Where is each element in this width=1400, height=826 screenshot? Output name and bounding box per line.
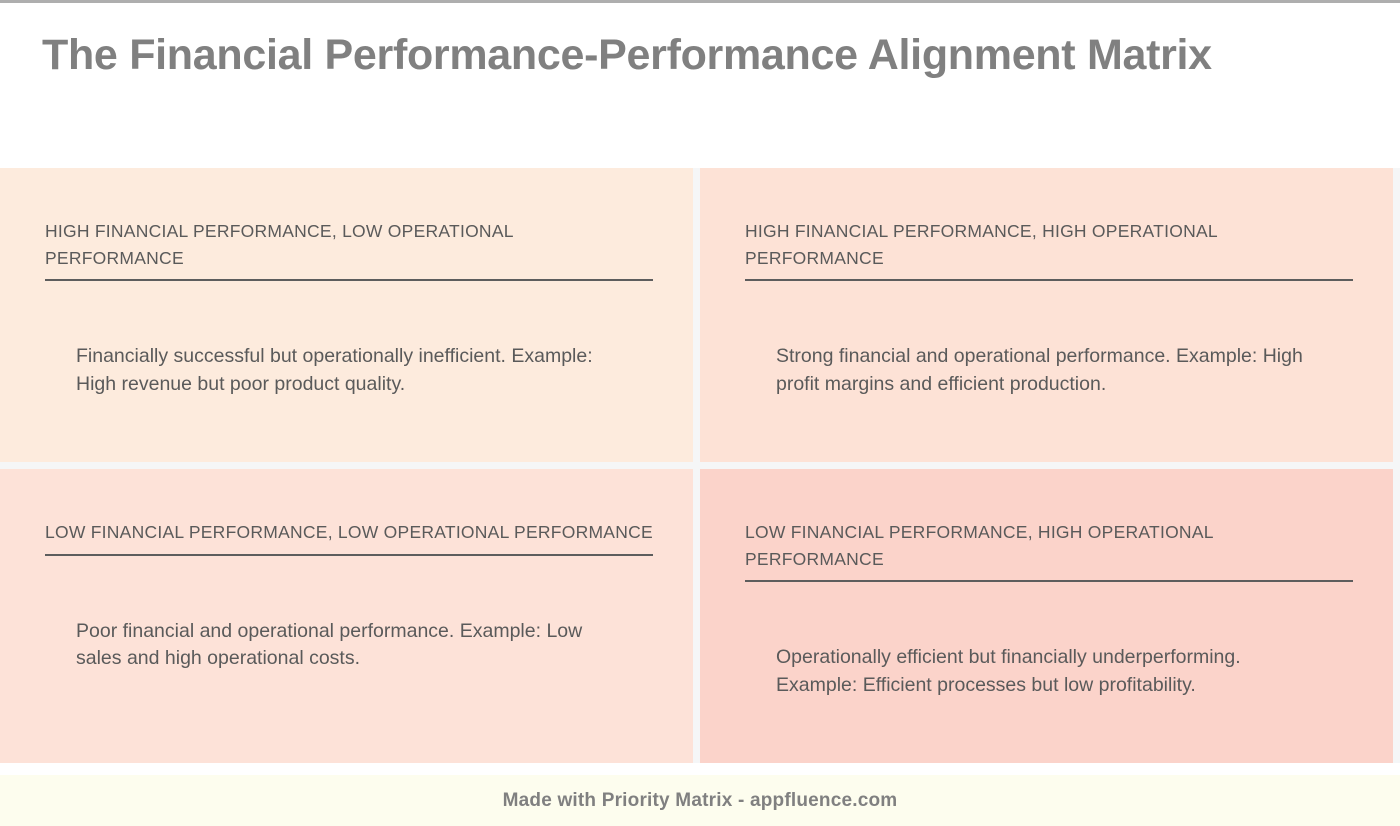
- quadrant-bottom-right[interactable]: LOW FINANCIAL PERFORMANCE, HIGH OPERATIO…: [700, 469, 1393, 763]
- footer: Made with Priority Matrix - appfluence.c…: [0, 763, 1400, 826]
- quadrant-body-bottom-right: Operationally efficient but financially …: [776, 644, 1316, 699]
- quadrant-bottom-left[interactable]: LOW FINANCIAL PERFORMANCE, LOW OPERATION…: [0, 469, 693, 763]
- title-area: The Financial Performance-Performance Al…: [0, 3, 1400, 168]
- footer-attribution[interactable]: Made with Priority Matrix - appfluence.c…: [503, 790, 898, 812]
- quadrant-top-right[interactable]: HIGH FINANCIAL PERFORMANCE, HIGH OPERATI…: [700, 168, 1393, 462]
- quadrant-body-top-left: Financially successful but operationally…: [76, 343, 616, 398]
- quadrant-header-top-left: HIGH FINANCIAL PERFORMANCE, LOW OPERATIO…: [45, 218, 653, 281]
- quadrant-header-bottom-right: LOW FINANCIAL PERFORMANCE, HIGH OPERATIO…: [745, 519, 1353, 582]
- quadrant-body-top-right: Strong financial and operational perform…: [776, 343, 1316, 398]
- quadrant-grid: HIGH FINANCIAL PERFORMANCE, LOW OPERATIO…: [0, 168, 1400, 763]
- matrix-page: The Financial Performance-Performance Al…: [0, 0, 1400, 826]
- quadrant-header-top-right: HIGH FINANCIAL PERFORMANCE, HIGH OPERATI…: [745, 218, 1353, 281]
- quadrant-top-left[interactable]: HIGH FINANCIAL PERFORMANCE, LOW OPERATIO…: [0, 168, 693, 462]
- page-title: The Financial Performance-Performance Al…: [42, 29, 1342, 81]
- quadrant-header-bottom-left: LOW FINANCIAL PERFORMANCE, LOW OPERATION…: [45, 519, 653, 556]
- quadrant-body-bottom-left: Poor financial and operational performan…: [76, 618, 616, 673]
